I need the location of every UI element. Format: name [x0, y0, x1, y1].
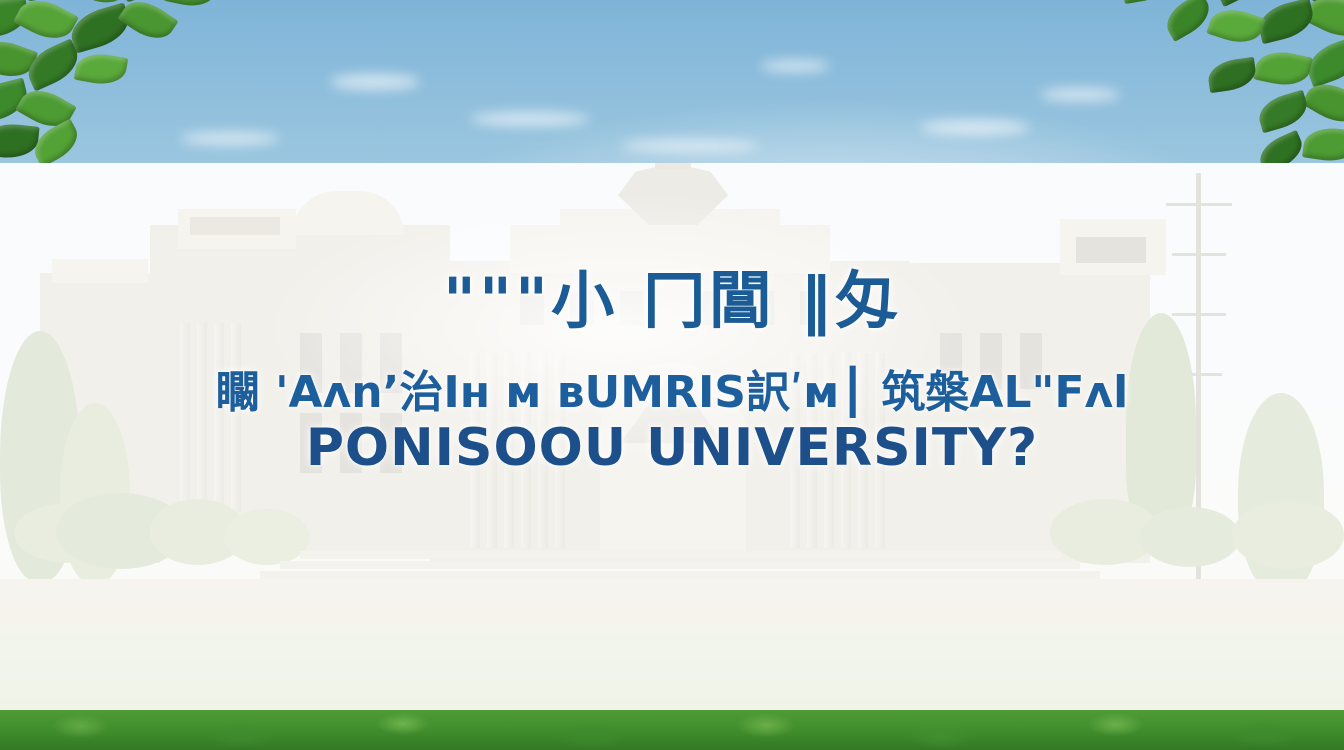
campus-plaza	[0, 579, 1344, 631]
campus-lawn	[0, 625, 1344, 710]
headline-top-line: """小 冂閶 ‖匁	[0, 268, 1344, 333]
headline-bottom-line: PONISOOU UNIVERSITY?	[0, 421, 1344, 476]
building-left-roof-vent	[190, 217, 280, 235]
mast-arm	[1172, 253, 1226, 256]
shrub	[1232, 501, 1344, 569]
entrance-steps	[280, 561, 1080, 569]
window	[1076, 237, 1146, 263]
mast-arm	[1166, 203, 1232, 206]
dome-finial	[655, 163, 691, 169]
building-left-pediment	[292, 191, 404, 235]
entrance-steps	[260, 571, 1100, 579]
shrub	[1140, 507, 1240, 567]
entrance-steps	[300, 551, 1060, 559]
poster-canvas: """小 冂閶 ‖匁 矙 'Aʌnʼ治Iʜ м ʙUMRIS訳ʹм⎮ 筑槃AL"…	[0, 0, 1344, 750]
shrub	[224, 509, 310, 565]
hedge-top-edge	[0, 710, 1344, 717]
headline-block: """小 冂閶 ‖匁 矙 'Aʌnʼ治Iʜ м ʙUMRIS訳ʹм⎮ 筑槃AL"…	[0, 268, 1344, 476]
headline-middle-line: 矙 'Aʌnʼ治Iʜ м ʙUMRIS訳ʹм⎮ 筑槃AL"Fʌl	[0, 369, 1344, 417]
